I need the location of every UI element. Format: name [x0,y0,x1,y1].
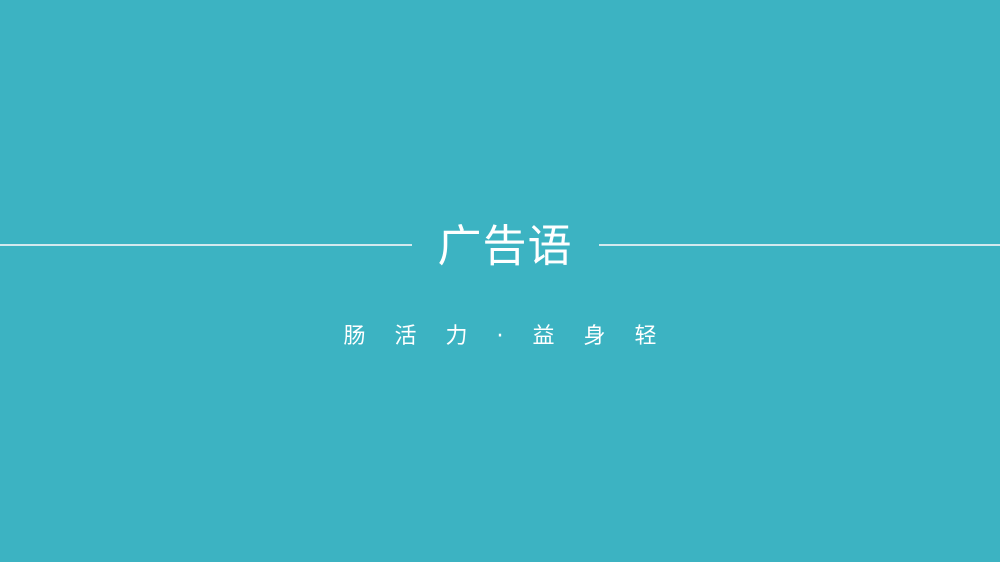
divider-line-right [599,244,1000,246]
slide-subtitle: 肠 活 力 · 益 身 轻 [0,320,1000,354]
divider-line-left [0,244,412,246]
title-band: 广告语 [0,212,1000,278]
slide-title: 广告语 [412,225,599,269]
slide-canvas: 广告语 肠 活 力 · 益 身 轻 [0,0,1000,562]
